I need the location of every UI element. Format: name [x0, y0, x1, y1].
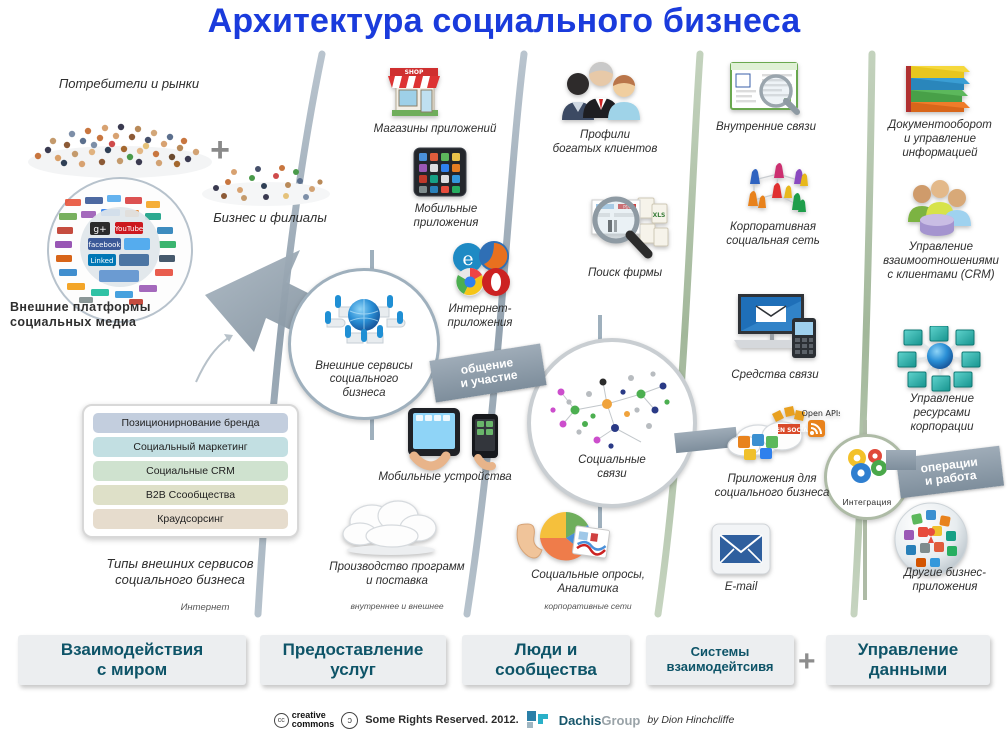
node-external-services-caption: Внешние сервисы социального бизнеса [315, 360, 412, 401]
page-search-icon [728, 60, 802, 116]
social-surveys-sublabel: корпоративные сети [498, 601, 678, 611]
magnifier-documents-icon: XLS PDF [582, 190, 670, 262]
internet-applications-label: Интернет- приложения [430, 302, 530, 330]
legend-row-social-marketing[interactable]: Социальный маркетинг [93, 437, 288, 457]
svg-text:g+: g+ [93, 225, 106, 235]
cc-ring-icon: cc [274, 713, 289, 728]
cloud-icon [336, 496, 446, 556]
external-social-media-platforms-label: Внешние платформы социальных медиа [10, 300, 190, 331]
svg-text:Linked: Linked [91, 257, 114, 265]
svg-text:facebook: facebook [89, 241, 122, 249]
node-social-connections-caption: Социальные связи [578, 454, 646, 482]
monitor-phone-icon [730, 288, 822, 360]
social-surveys-analytics-label: Социальные опросы, Аналитика [498, 568, 678, 596]
creative-commons-icon: cc creative commons [274, 711, 335, 728]
envelope-icon [710, 522, 772, 578]
business-branches-label: Бизнес и филиалы [190, 210, 350, 226]
pillar-interaction-systems[interactable]: Системы взаимодейтсивя [646, 635, 794, 685]
svg-text:e: e [462, 248, 473, 270]
legend-row-social-crm[interactable]: Социальные CRM [93, 461, 288, 481]
people-network-icon [738, 158, 818, 220]
company-search-label: Поиск фирмы [560, 266, 690, 280]
mobile-apps-grid-icon [412, 146, 468, 198]
ribbon-communication-label: общение и участие [457, 355, 518, 391]
tablet-phone-icon [400, 406, 510, 474]
dachis-brand-suffix: Group [601, 713, 640, 728]
internet-label: Интернет [150, 602, 260, 614]
pillar-people-communities[interactable]: Люди и сообщества [462, 635, 630, 685]
crm-people-db-icon [900, 178, 976, 240]
globe-puzzle-people-icon [317, 285, 411, 351]
crowd-consumers-icon [20, 100, 220, 180]
copyleft-icon: ↄ [341, 712, 358, 729]
crowd-business-icon [196, 148, 336, 210]
node-external-services[interactable]: Внешние сервисы социального бизнеса [288, 268, 440, 420]
crm-label: Управление взаимоотношениями с клиентами… [874, 240, 1008, 282]
svg-text:OPEN SOCIAL: OPEN SOCIAL [766, 427, 811, 434]
dachis-brand: DachisGroup [559, 713, 641, 728]
mobile-devices-label: Мобильные устройства [350, 470, 540, 484]
author-byline: by Dion Hinchcliffe [647, 714, 734, 726]
pillar-data-management[interactable]: Управление данными [826, 635, 990, 685]
software-production-delivery-label: Производство программ и поставка [312, 560, 482, 588]
svg-text:YouTube: YouTube [114, 225, 143, 233]
open-social-cloud-icon: OPEN SOCIAL Open APIs [724, 404, 840, 466]
open-apis-sublabel: Open APIs [802, 409, 840, 418]
footer: cc creative commons ↄ Some Rights Reserv… [0, 710, 1008, 730]
ribbon-connector-right [886, 450, 916, 470]
svg-text:XLS: XLS [653, 212, 666, 219]
node-social-connections[interactable]: Социальные связи [527, 338, 697, 508]
rich-customer-profiles-label: Профили богатых клиентов [540, 128, 670, 156]
social-business-applications-label: Приложения для социального бизнеса [692, 472, 852, 500]
pillar-service-provision[interactable]: Предоставление услуг [260, 635, 446, 685]
app-stores-label: Магазины приложений [350, 122, 520, 136]
ear-pie-chart-icon [512, 504, 622, 570]
mobile-applications-label: Мобильные приложения [396, 202, 496, 230]
books-icon [902, 58, 976, 116]
infographic-canvas: Архитектура социального бизнеса [0, 0, 1008, 738]
dachis-logo-icon [526, 710, 552, 730]
erp-cubes-icon [896, 326, 984, 392]
browsers-icon: e [448, 240, 514, 300]
other-business-applications-label: Другие бизнес- приложения [886, 566, 1004, 594]
legend-row-b2b-communities[interactable]: B2B Ссообщества [93, 485, 288, 505]
software-production-sublabel: внутреннее и внешнее [312, 601, 482, 611]
user-profiles-icon [558, 58, 644, 122]
rights-text: Some Rights Reserved. 2012. [365, 714, 518, 726]
email-label: E-mail [700, 580, 782, 594]
ribbon-operations-label: операции и работа [920, 455, 980, 489]
pillar-plus-sign: + [798, 645, 816, 679]
consumers-markets-label: Потребители и рынки [24, 76, 234, 92]
dachis-brand-main: Dachis [559, 713, 602, 728]
legend-title: Типы внешних сервисов социального бизнес… [75, 556, 285, 588]
communication-tools-label: Средства связи [710, 368, 840, 382]
svg-text:SHOP: SHOP [405, 69, 424, 76]
cc-line-2: commons [292, 720, 335, 729]
legend-row-brand-positioning[interactable]: Позиционирнование бренда [93, 413, 288, 433]
network-graph-icon [545, 358, 679, 458]
document-management-label: Документооборот и управление информацией [876, 118, 1004, 160]
legend-row-crowdsourcing[interactable]: Краудсорсинг [93, 509, 288, 529]
legend-panel: Позиционирнование бренда Социальный марк… [82, 404, 299, 538]
pillar-world-interaction[interactable]: Взаимодействия с миром [18, 635, 246, 685]
shop-icon: SHOP [382, 58, 446, 120]
erp-label: Управление ресурсами корпорации [884, 392, 1000, 434]
internal-relations-label: Внутренние связи [706, 120, 826, 134]
corporate-social-network-label: Корпоративная социальная сеть [708, 220, 838, 248]
